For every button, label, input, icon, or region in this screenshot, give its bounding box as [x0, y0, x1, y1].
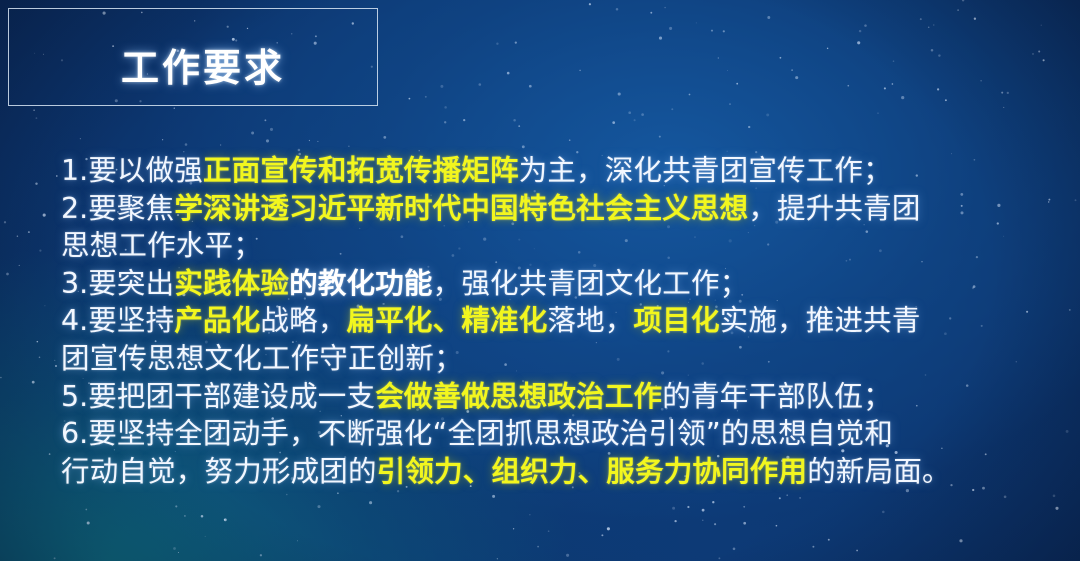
list-item: 5.要把团干部建设成一支会做善做思想政治工作的青年干部队伍；	[61, 378, 1033, 416]
list-item: 2.要聚焦学深讲透习近平新时代中国特色社会主义思想，提升共青团	[61, 190, 1033, 228]
item-text: 落地，	[547, 304, 633, 337]
list-item: 4.要坚持产品化战略，扁平化、精准化落地，项目化实施，推进共青	[61, 302, 1033, 340]
list-item-number: 1.	[61, 154, 88, 187]
item-text: 战略，	[260, 304, 346, 337]
list-item-continuation: 团宣传思想文化工作守正创新；	[61, 340, 1033, 378]
item-text: 思想工作水平；	[61, 229, 262, 262]
item-text: ，提升共青团	[748, 192, 920, 225]
item-text: 要坚持	[88, 304, 174, 337]
highlighted-phrase: 实践体验	[174, 267, 289, 300]
list-item-continuation: 行动自觉，努力形成团的引领力、组织力、服务力协同作用的新局面。	[61, 453, 1033, 491]
item-text: 实施，推进共青	[720, 304, 921, 337]
list-item-number: 3.	[61, 267, 88, 300]
list-item-number: 2.	[61, 192, 88, 225]
highlighted-phrase: 扁平化、精准化	[347, 304, 548, 337]
highlighted-phrase: 产品化	[174, 304, 260, 337]
highlighted-phrase: 正面宣传和拓宽传播矩阵	[203, 154, 519, 187]
highlighted-phrase: 会做善做思想政治工作	[375, 380, 662, 413]
page-title: 工作要求	[121, 37, 285, 92]
item-text: 为主，深化共青团宣传工作；	[519, 154, 892, 187]
item-text: 要聚焦	[88, 192, 174, 225]
list-item: 1.要以做强正面宣传和拓宽传播矩阵为主，深化共青团宣传工作；	[61, 152, 1033, 190]
item-text: 要突出	[88, 267, 174, 300]
list-item-number: 5.	[61, 380, 88, 413]
list-item: 3.要突出实践体验的教化功能，强化共青团文化工作；	[61, 265, 1033, 303]
item-text: 要以做强	[88, 154, 203, 187]
item-text: 的青年干部队伍；	[662, 380, 892, 413]
highlighted-phrase: 引领力、组织力、服务力协同作用	[377, 455, 808, 488]
highlighted-phrase: 学深讲透习近平新时代中国特色社会主义思想	[174, 192, 748, 225]
highlighted-phrase: 项目化	[634, 304, 720, 337]
item-text: 行动自觉，努力形成团的	[61, 455, 377, 488]
item-text: ，强化共青团文化工作；	[433, 267, 749, 300]
item-text: 的新局面。	[807, 455, 951, 488]
list-item-number: 6.	[61, 417, 88, 450]
list-item-number: 4.	[61, 304, 88, 337]
list-item-continuation: 思想工作水平；	[61, 227, 1033, 265]
item-text: 要把团干部建设成一支	[88, 380, 375, 413]
content-list: 1.要以做强正面宣传和拓宽传播矩阵为主，深化共青团宣传工作；2.要聚焦学深讲透习…	[61, 152, 1033, 490]
item-text: 团宣传思想文化工作守正创新；	[61, 342, 463, 375]
item-text: 要坚持全团动手，不断强化“全团抓思想政治引领”的思想自觉和	[88, 417, 893, 450]
list-item: 6.要坚持全团动手，不断强化“全团抓思想政治引领”的思想自觉和	[61, 415, 1033, 453]
emphasized-phrase: 的教化功能	[289, 267, 433, 300]
title-frame: 工作要求	[8, 8, 378, 106]
slide-canvas: 工作要求 1.要以做强正面宣传和拓宽传播矩阵为主，深化共青团宣传工作；2.要聚焦…	[0, 0, 1080, 561]
